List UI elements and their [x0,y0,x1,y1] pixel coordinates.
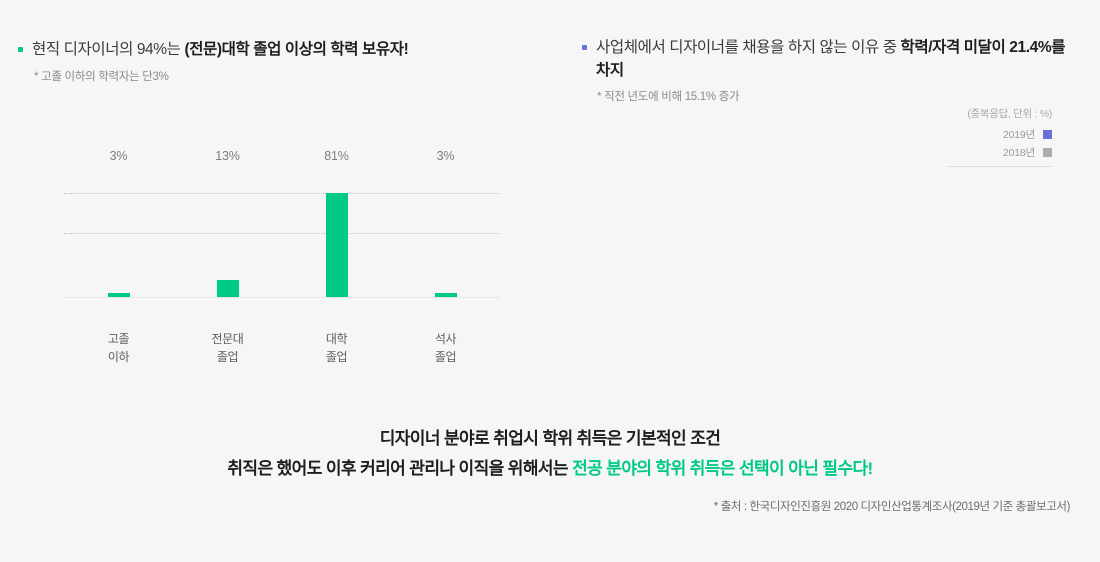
left-header: 현직 디자이너의 94%는 (전문)대학 졸업 이상의 학력 보유자! * 고졸… [18,38,538,84]
right-header: 사업체에서 디자이너를 채용을 하지 않는 이유 중 학력/자격 미달이 21.… [582,36,1082,104]
legend-unit-note: (중복응답, 단위 : %) [967,106,1052,121]
bar: 81% [326,193,348,297]
bullet-icon [18,47,23,52]
right-headline-plain: 사업체에서 디자이너를 채용을 하지 않는 이유 중 [596,39,901,56]
bar-column: 3% [435,168,457,297]
left-bar-groups: 3%13%81%3% [64,168,500,297]
bar: 13% [217,280,239,297]
right-chart-panel: 사업체에서 디자이너를 채용을 하지 않는 이유 중 학력/자격 미달이 21.… [560,0,1100,400]
bar-value-label: 3% [110,149,128,163]
left-subnote: * 고졸 이하의 학력자는 단3% [34,68,538,84]
bullet-icon [582,45,587,50]
left-headline-plain: 현직 디자이너의 94%는 [32,41,184,58]
source-note: * 출처 : 한국디자인진흥원 2020 디자인산업통계조사(2019년 기준 … [714,498,1070,514]
conclusion-block: 디자이너 분야로 취업시 학위 취득은 기본적인 조건 취직은 했어도 이후 커… [0,424,1100,484]
infographic-root: 현직 디자이너의 94%는 (전문)대학 졸업 이상의 학력 보유자! * 고졸… [0,0,1100,562]
left-chart-plot: 3%13%81%3% [64,168,500,298]
bar-value-label: 13% [215,149,239,163]
legend-label: 2018년 [1003,145,1035,160]
left-headline: 현직 디자이너의 94%는 (전문)대학 졸업 이상의 학력 보유자! [32,38,408,61]
bar-column: 3% [108,168,130,297]
bar-group: 3% [391,168,500,297]
conclusion-line-2-highlight: 전공 분야의 학위 취득은 선택이 아닌 필수다! [572,459,873,478]
x-axis-label: 석사 졸업 [391,330,500,366]
legend-label: 2019년 [1003,127,1035,142]
legend-divider [947,166,1052,167]
x-axis-label: 고졸 이하 [64,330,173,366]
bar: 3% [435,293,457,297]
legend-entries: 2019년2018년 [967,127,1052,160]
legend-item-2019년: 2019년 [967,127,1052,142]
left-x-axis-labels: 고졸 이하전문대 졸업대학 졸업석사 졸업 [64,330,500,366]
right-headline: 사업체에서 디자이너를 채용을 하지 않는 이유 중 학력/자격 미달이 21.… [596,36,1082,82]
chart-legend: (중복응답, 단위 : %) 2019년2018년 [967,106,1052,163]
bar-group: 13% [173,168,282,297]
conclusion-line-1: 디자이너 분야로 취업시 학위 취득은 기본적인 조건 [0,424,1100,454]
bar-group: 81% [282,168,391,297]
bar-column: 13% [217,168,239,297]
legend-swatch-icon [1043,148,1052,157]
left-headline-row: 현직 디자이너의 94%는 (전문)대학 졸업 이상의 학력 보유자! [18,38,538,61]
conclusion-line-2-plain: 취직은 했어도 이후 커리어 관리나 이직을 위해서는 [227,459,572,478]
axis-baseline [64,297,500,298]
bar: 3% [108,293,130,297]
conclusion-line-2: 취직은 했어도 이후 커리어 관리나 이직을 위해서는 전공 분야의 학위 취득… [0,454,1100,484]
right-headline-row: 사업체에서 디자이너를 채용을 하지 않는 이유 중 학력/자격 미달이 21.… [582,36,1082,82]
right-subnote: * 직전 년도에 비해 15.1% 증가 [597,88,1082,104]
left-headline-bold: (전문)대학 졸업 이상의 학력 보유자! [184,41,408,58]
bar-value-label: 81% [324,149,348,163]
bar-value-label: 3% [437,149,455,163]
x-axis-label: 대학 졸업 [282,330,391,366]
legend-item-2018년: 2018년 [967,145,1052,160]
legend-swatch-icon [1043,130,1052,139]
x-axis-label: 전문대 졸업 [173,330,282,366]
bar-group: 3% [64,168,173,297]
left-chart-panel: 현직 디자이너의 94%는 (전문)대학 졸업 이상의 학력 보유자! * 고졸… [0,0,560,400]
bar-column: 81% [326,168,348,297]
